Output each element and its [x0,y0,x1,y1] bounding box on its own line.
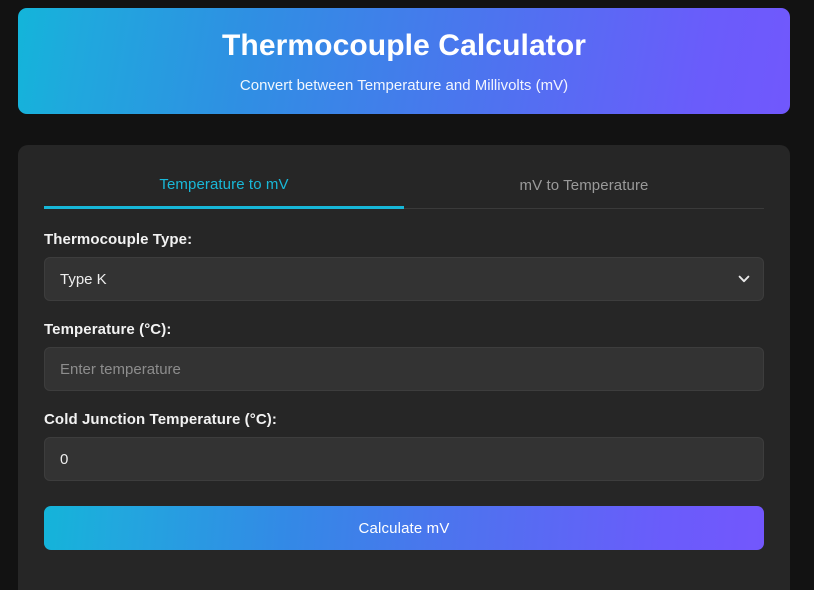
field-group-cold-junction: Cold Junction Temperature (°C): [44,411,764,481]
temperature-input[interactable] [44,347,764,391]
thermocouple-type-label: Thermocouple Type: [44,231,764,248]
app-root: Thermocouple Calculator Convert between … [0,0,814,590]
temperature-label: Temperature (°C): [44,321,764,338]
calculate-mv-button[interactable]: Calculate mV [44,506,764,550]
tab-mv-to-temperature[interactable]: mV to Temperature [404,176,764,208]
page-title: Thermocouple Calculator [222,28,586,64]
field-group-thermocouple-type: Thermocouple Type: Type K [44,231,764,301]
thermocouple-type-select-wrap: Type K [44,257,764,301]
tab-bar: Temperature to mV mV to Temperature [44,145,764,209]
cold-junction-input[interactable] [44,437,764,481]
calculator-card: Temperature to mV mV to Temperature Ther… [18,145,790,590]
cold-junction-label: Cold Junction Temperature (°C): [44,411,764,428]
page-subtitle: Convert between Temperature and Millivol… [240,77,568,94]
conversion-form: Thermocouple Type: Type K Temperature (°… [44,209,764,550]
thermocouple-type-select[interactable]: Type K [44,257,764,301]
app-header-banner: Thermocouple Calculator Convert between … [18,8,790,114]
tab-temperature-to-mv[interactable]: Temperature to mV [44,176,404,209]
field-group-temperature: Temperature (°C): [44,321,764,391]
